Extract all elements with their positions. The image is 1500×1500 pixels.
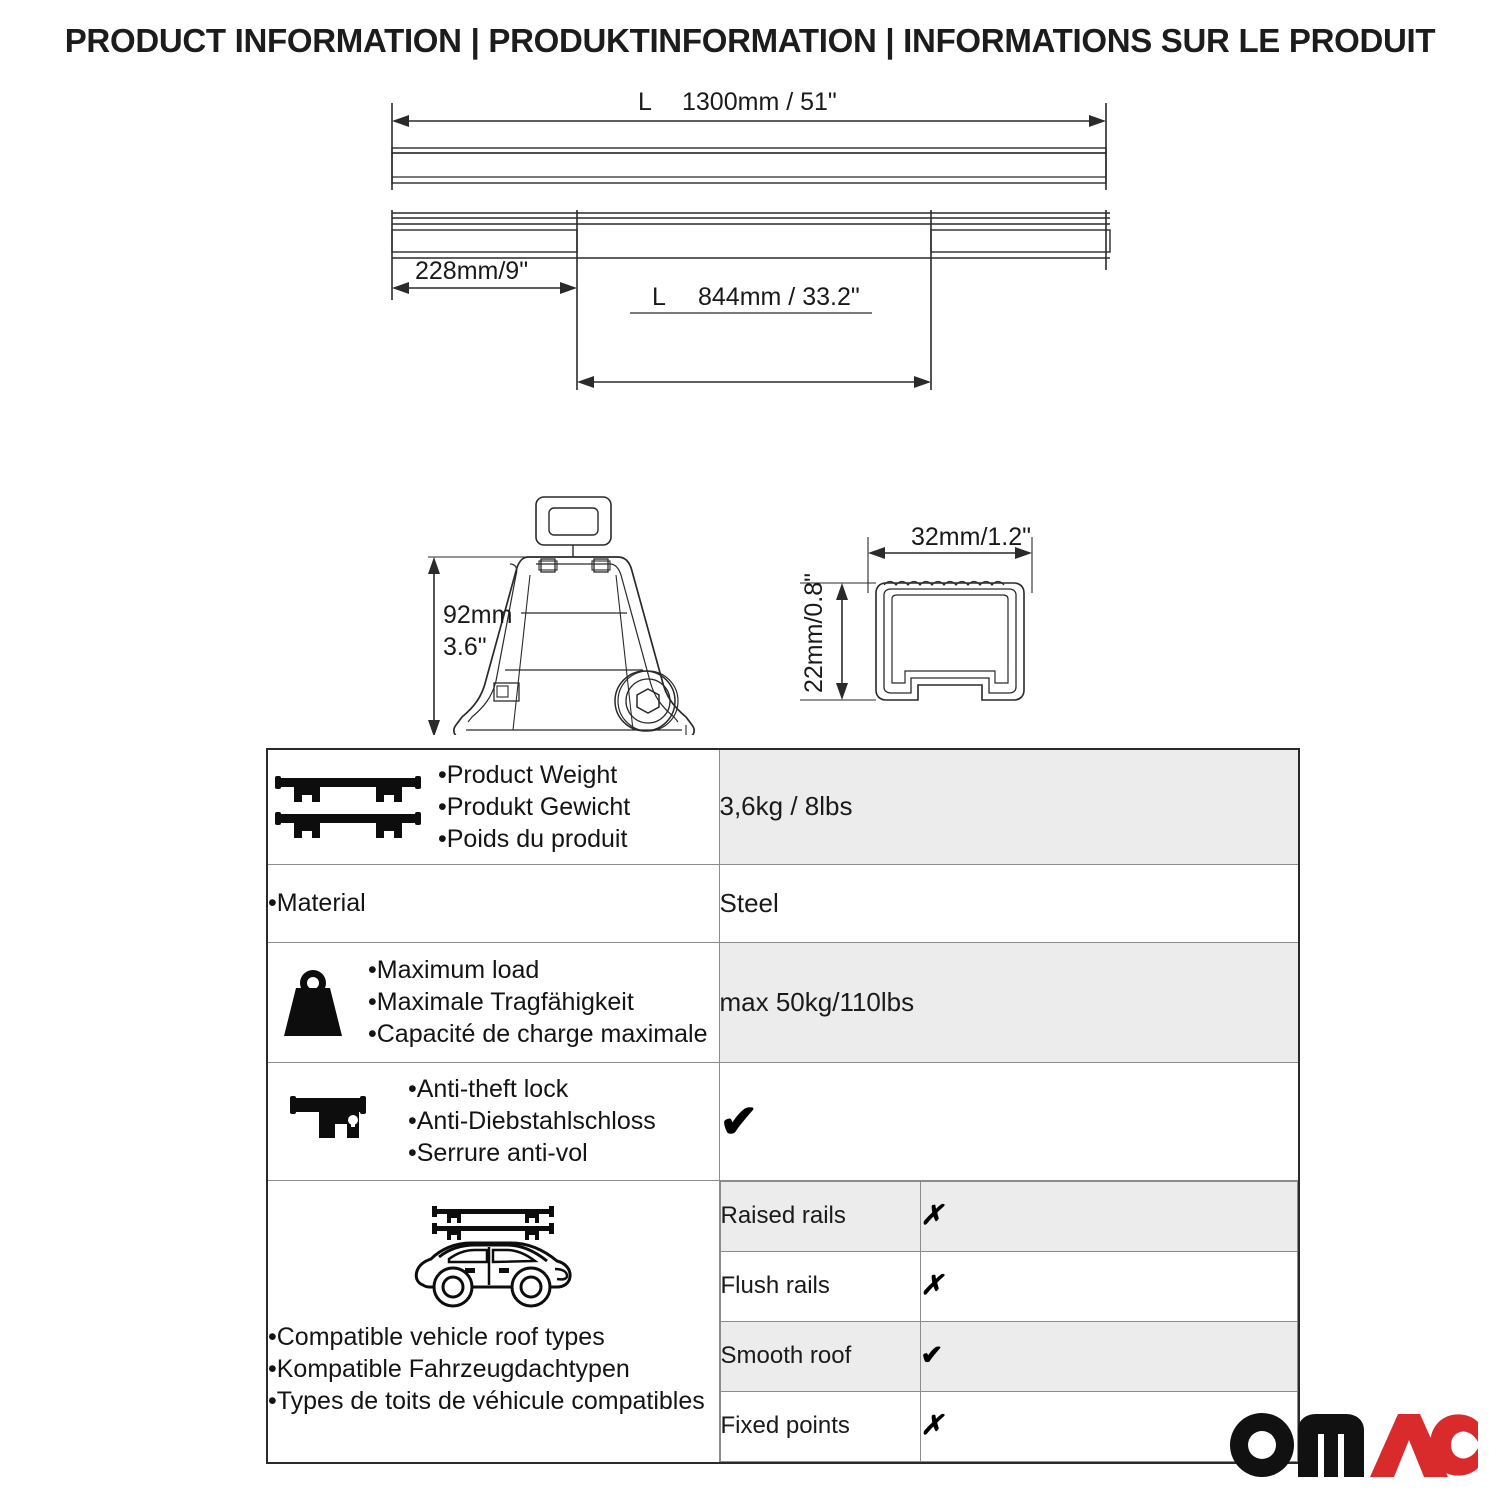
weight-icon xyxy=(268,964,358,1040)
car-with-rack-icon xyxy=(268,1199,719,1315)
profile-width-label: 32mm/1.2" xyxy=(911,523,1031,551)
bar-length-prefix: L xyxy=(638,88,652,116)
omac-logo xyxy=(1228,1408,1478,1482)
dimension-drawing-svg: L 1300mm / 51" 228mm/9" L 844mm / 33.2" … xyxy=(0,85,1500,735)
label-line: •Anti-theft lock xyxy=(408,1073,656,1105)
label-line: •Kompatible Fahrzeugdachtypen xyxy=(268,1353,719,1385)
cross-icon: ✗ xyxy=(921,1270,944,1300)
roof-type-name: Smooth roof xyxy=(720,1321,920,1391)
span-length-label: 844mm / 33.2" xyxy=(698,283,860,311)
label-line: •Produkt Gewicht xyxy=(438,791,630,823)
product-information-page: PRODUCT INFORMATION | PRODUKTINFORMATION… xyxy=(0,0,1500,1500)
page-header: PRODUCT INFORMATION | PRODUKTINFORMATION… xyxy=(0,22,1500,60)
roof-type-row: Flush rails ✗ xyxy=(720,1251,1298,1321)
two-roof-bars-icon xyxy=(268,768,428,846)
label-line: •Maximum load xyxy=(368,954,707,986)
check-icon: ✔ xyxy=(921,1340,944,1370)
roof-type-name: Fixed points xyxy=(720,1391,920,1461)
row-label-text: •Product Weight •Produkt Gewicht •Poids … xyxy=(438,759,630,855)
cross-icon: ✗ xyxy=(921,1200,944,1230)
label-line: •Compatible vehicle roof types xyxy=(268,1321,719,1353)
roof-types-label-cell: •Compatible vehicle roof types •Kompatib… xyxy=(267,1180,719,1463)
roof-type-support: ✗ xyxy=(920,1251,1298,1321)
row-label-cell: •Maximum load •Maximale Tragfähigkeit •C… xyxy=(267,942,719,1062)
row-label-cell: •Material xyxy=(267,864,719,942)
label-line: •Serrure anti-vol xyxy=(408,1137,656,1169)
cross-icon: ✗ xyxy=(921,1410,944,1440)
label-line: •Maximale Tragfähigkeit xyxy=(368,986,707,1018)
technical-drawing: L 1300mm / 51" 228mm/9" L 844mm / 33.2" … xyxy=(0,85,1500,735)
row-label-text: •Anti-theft lock •Anti-Diebstahlschloss … xyxy=(408,1073,656,1169)
label-line: •Types de toits de véhicule compatibles xyxy=(268,1385,719,1417)
anti-theft-value: ✔ xyxy=(719,1062,1299,1180)
product-weight-value: 3,6kg / 8lbs xyxy=(719,749,1299,864)
page-title: PRODUCT INFORMATION | PRODUKTINFORMATION… xyxy=(0,22,1500,60)
span-prefix: L xyxy=(652,283,666,311)
label-line: •Material xyxy=(268,887,719,919)
roof-types-table: Raised rails ✗ Flush rails ✗ xyxy=(720,1181,1299,1462)
table-row: •Product Weight •Produkt Gewicht •Poids … xyxy=(267,749,1299,864)
profile-height-label: 22mm/0.8" xyxy=(800,573,828,693)
row-label-cell: •Anti-theft lock •Anti-Diebstahlschloss … xyxy=(267,1062,719,1180)
roof-type-name: Flush rails xyxy=(720,1251,920,1321)
roof-type-name: Raised rails xyxy=(720,1181,920,1251)
row-label-cell: •Product Weight •Produkt Gewicht •Poids … xyxy=(267,749,719,864)
row-label-text: •Material xyxy=(268,887,719,919)
foot-height-mm-label: 92mm xyxy=(443,601,512,629)
table-row: •Anti-theft lock •Anti-Diebstahlschloss … xyxy=(267,1062,1299,1180)
roof-types-value-cell: Raised rails ✗ Flush rails ✗ xyxy=(719,1180,1299,1463)
roof-type-support: ✗ xyxy=(920,1181,1298,1251)
label-line: •Poids du produit xyxy=(438,823,630,855)
row-label-text: •Maximum load •Maximale Tragfähigkeit •C… xyxy=(368,954,707,1050)
specification-table: •Product Weight •Produkt Gewicht •Poids … xyxy=(266,748,1300,1464)
max-load-value: max 50kg/110lbs xyxy=(719,942,1299,1062)
check-icon: ✔ xyxy=(720,1095,759,1147)
table-row: •Compatible vehicle roof types •Kompatib… xyxy=(267,1180,1299,1463)
roof-type-row: Fixed points ✗ xyxy=(720,1391,1298,1461)
table-row: •Maximum load •Maximale Tragfähigkeit •C… xyxy=(267,942,1299,1062)
table-row: •Material Steel xyxy=(267,864,1299,942)
label-line: •Anti-Diebstahlschloss xyxy=(408,1105,656,1137)
roof-types-label-text: •Compatible vehicle roof types •Kompatib… xyxy=(268,1321,719,1417)
label-line: •Capacité de charge maximale xyxy=(368,1018,707,1050)
roof-type-row: Raised rails ✗ xyxy=(720,1181,1298,1251)
roof-type-support: ✔ xyxy=(920,1321,1298,1391)
label-line: •Product Weight xyxy=(438,759,630,791)
bar-length-label: 1300mm / 51" xyxy=(682,88,837,116)
foot-offset-label: 228mm/9" xyxy=(415,257,528,285)
foot-height-in-label: 3.6" xyxy=(443,633,487,661)
lock-icon xyxy=(268,1090,398,1152)
roof-type-row: Smooth roof ✔ xyxy=(720,1321,1298,1391)
material-value: Steel xyxy=(719,864,1299,942)
